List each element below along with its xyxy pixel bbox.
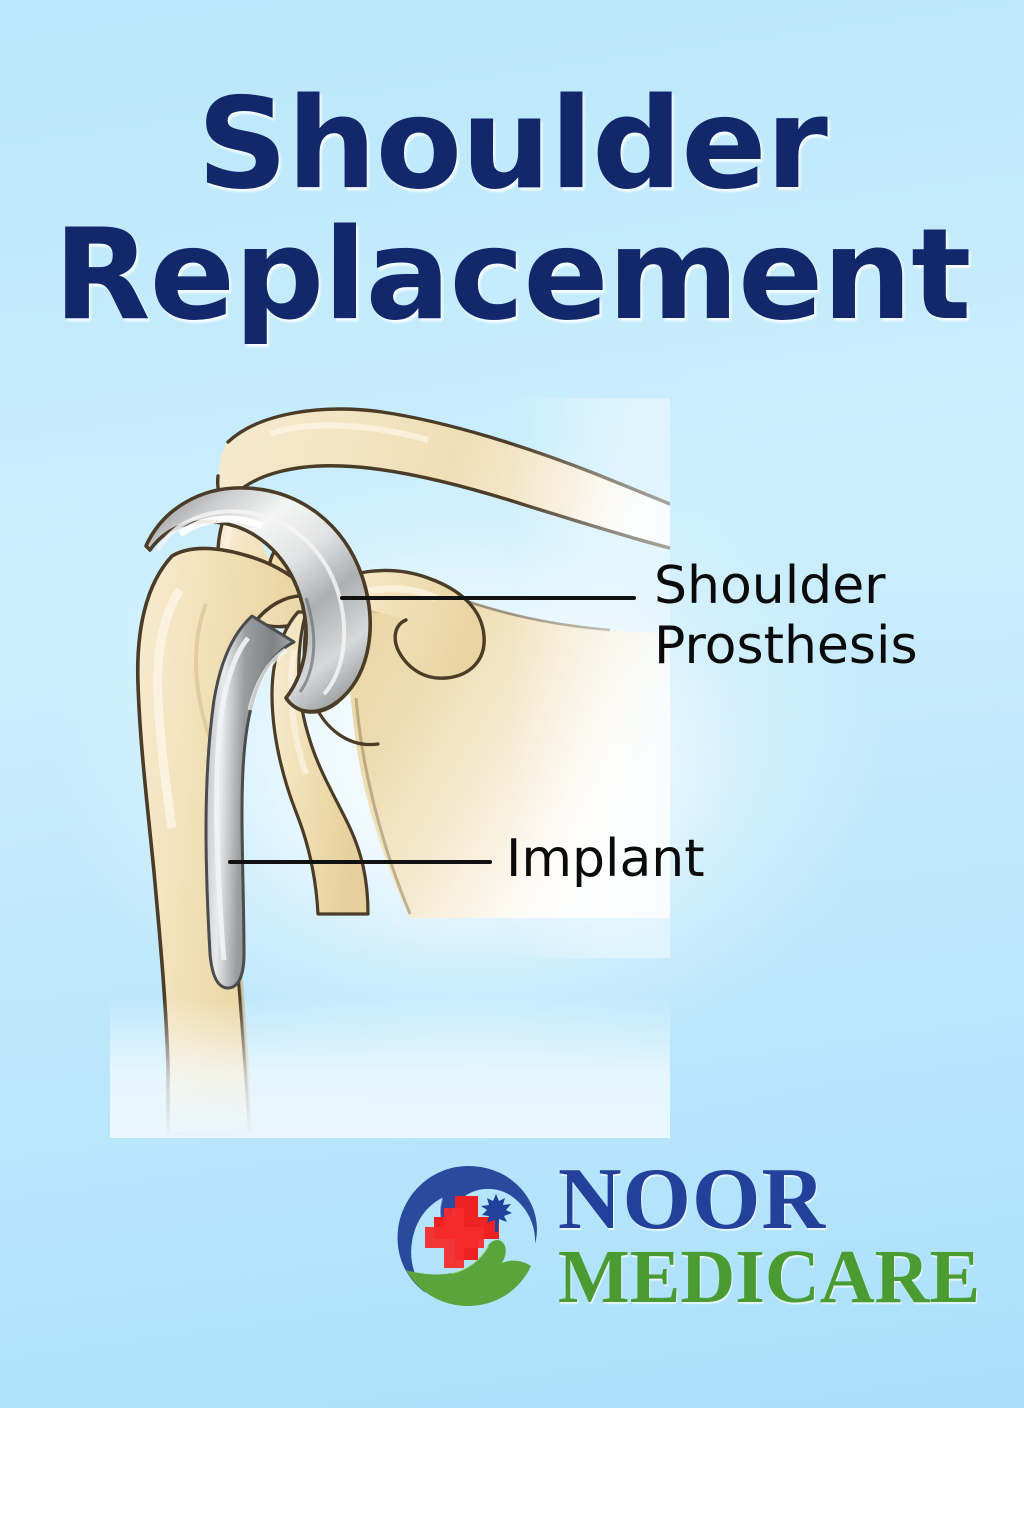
callout-shoulder-prosthesis-line-1: Shoulder: [654, 556, 918, 616]
callout-shoulder-prosthesis: Shoulder Prosthesis: [654, 556, 918, 677]
noor-medicare-emblem-icon: [392, 1160, 544, 1312]
leader-line-implant: [228, 860, 492, 864]
title-line-1: Shoulder: [0, 82, 1024, 207]
brand-wordmark: NOOR MEDICARE: [558, 1160, 980, 1313]
brand-logo[interactable]: NOOR MEDICARE: [392, 1146, 962, 1326]
page-title: Shoulder Replacement: [0, 82, 1024, 337]
brand-name-primary: NOOR: [558, 1160, 980, 1241]
callout-implant-line-1: Implant: [506, 829, 705, 889]
shoulder-anatomy-illustration: [110, 398, 670, 1138]
callout-implant: Implant: [506, 829, 705, 889]
title-line-2: Replacement: [0, 213, 1024, 338]
brand-name-secondary: MEDICARE: [558, 1243, 980, 1313]
footer-whitespace: [0, 1408, 1024, 1536]
leader-line-shoulder-prosthesis: [340, 596, 636, 600]
callout-shoulder-prosthesis-line-2: Prosthesis: [654, 616, 918, 676]
poster-root: Shoulder Replacement: [0, 0, 1024, 1536]
